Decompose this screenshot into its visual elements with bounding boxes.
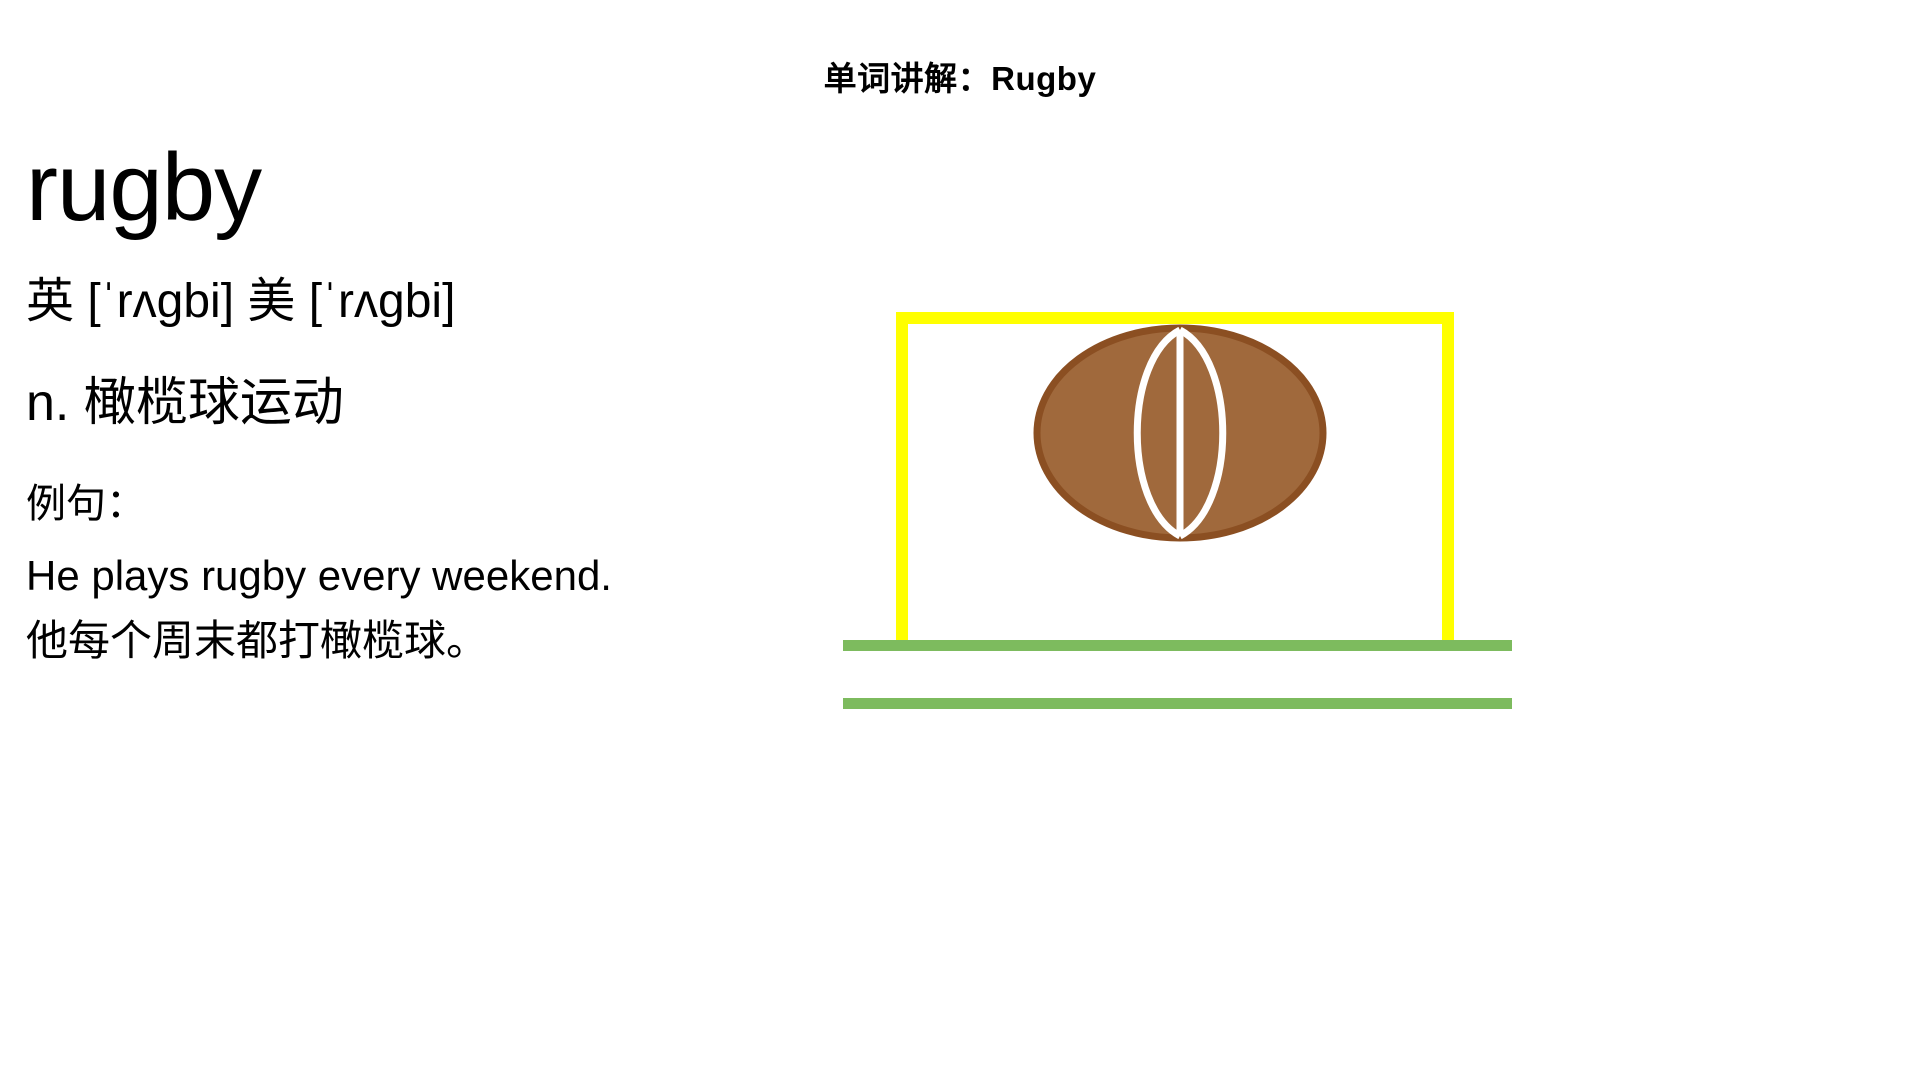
word-entry-panel: rugby 英 [ˈrʌɡbi] 美 [ˈrʌɡbi] n. 橄榄球运动 例句：…	[26, 140, 886, 667]
example-sentence-chinese: 他每个周末都打橄榄球。	[26, 615, 886, 668]
page-title: 单词讲解：Rugby	[0, 52, 1920, 100]
example-sentence-english: He plays rugby every weekend.	[26, 550, 886, 603]
definition: n. 橄榄球运动	[26, 372, 886, 434]
phonetic-transcriptions: 英 [ˈrʌɡbi] 美 [ˈrʌɡbi]	[26, 272, 886, 332]
rugby-ball-icon	[1037, 328, 1323, 538]
rugby-illustration	[830, 280, 1530, 740]
ground-lines	[843, 640, 1512, 709]
example-label: 例句：	[26, 480, 886, 528]
headword: rugby	[26, 140, 886, 236]
